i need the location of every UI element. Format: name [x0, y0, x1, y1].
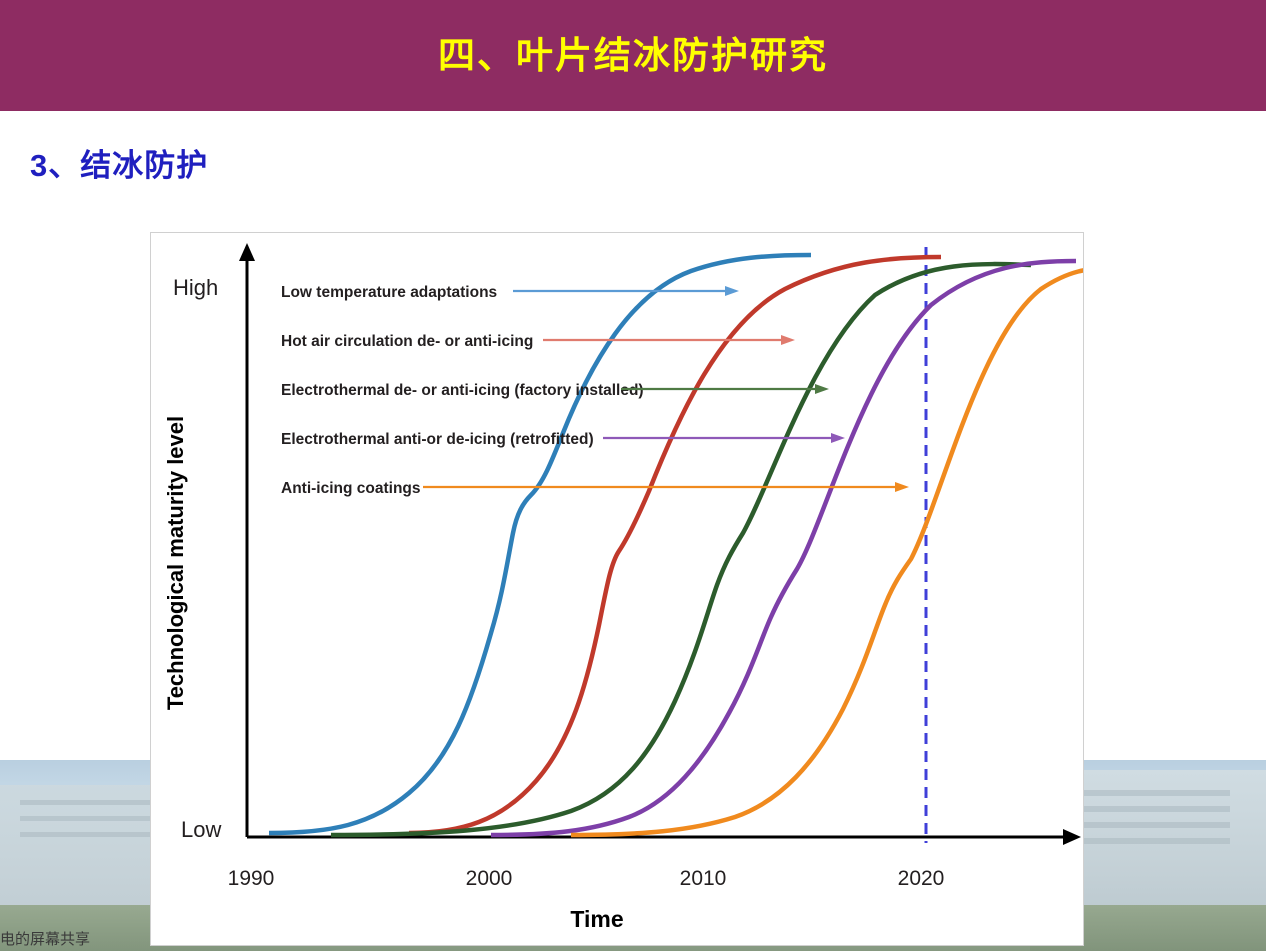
legend-arrowhead-4	[895, 482, 909, 492]
legend-arrowhead-2	[815, 384, 829, 394]
background-window	[1060, 790, 1230, 796]
y-tick-low: Low	[181, 817, 221, 842]
y-axis-title: Technological maturity level	[163, 416, 188, 710]
background-window	[1060, 822, 1230, 828]
technology-maturity-chart: Low temperature adaptations Hot air circ…	[151, 233, 1083, 945]
x-tick-2000: 2000	[466, 867, 513, 890]
x-axis-title: Time	[570, 906, 623, 932]
background-window	[1060, 806, 1230, 812]
legend-arrowhead-1	[781, 335, 795, 345]
x-tick-2020: 2020	[898, 867, 945, 890]
legend: Low temperature adaptations Hot air circ…	[281, 284, 909, 497]
y-tick-high: High	[173, 275, 218, 300]
section-subtitle: 3、结冰防护	[30, 140, 208, 185]
page-title: 四、叶片结冰防护研究	[0, 36, 1266, 76]
x-tick-2010: 2010	[680, 867, 727, 890]
legend-arrowhead-3	[831, 433, 845, 443]
chart-card: Low temperature adaptations Hot air circ…	[150, 232, 1084, 946]
legend-arrowhead-0	[725, 286, 739, 296]
legend-label-3: Electrothermal anti-or de-icing (retrofi…	[281, 431, 594, 448]
slide-header-bar: 四、叶片结冰防护研究	[0, 0, 1266, 111]
x-tick-1990: 1990	[228, 867, 275, 890]
legend-label-1: Hot air circulation de- or anti-icing	[281, 333, 533, 350]
chart-area: Low temperature adaptations Hot air circ…	[151, 233, 1083, 945]
legend-label-2: Electrothermal de- or anti-icing (factor…	[281, 382, 644, 399]
legend-label-4: Anti-icing coatings	[281, 480, 421, 497]
background-window	[1060, 838, 1230, 844]
series-electrothermal-retrofitted	[491, 261, 1076, 835]
legend-label-0: Low temperature adaptations	[281, 284, 497, 301]
screen-share-watermark: 电的屏幕共享	[0, 928, 90, 949]
